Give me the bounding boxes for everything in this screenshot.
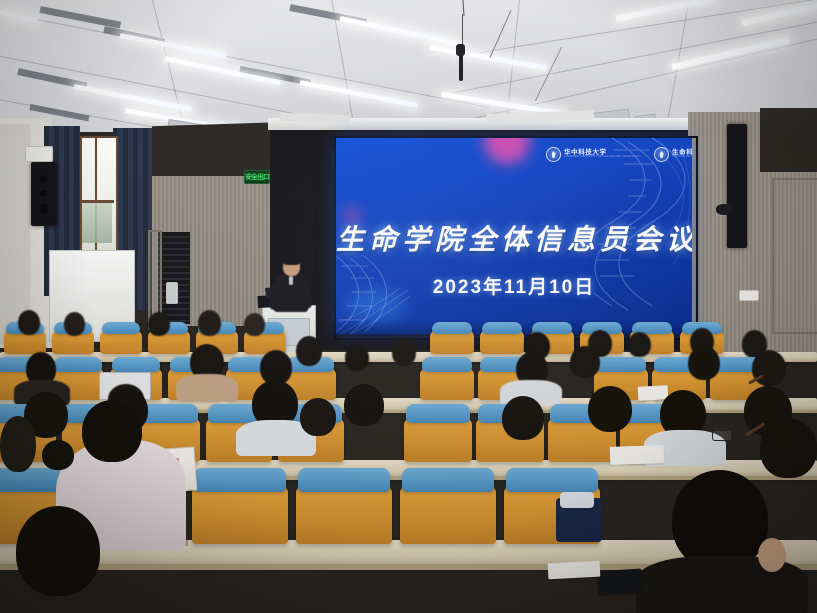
attendee-head <box>588 386 632 432</box>
attendee-head <box>16 506 100 596</box>
exit-sign-label: 安全出口 <box>245 172 269 182</box>
seat-back <box>296 486 392 544</box>
seat-headrest <box>102 322 140 334</box>
attendee-head <box>672 470 768 570</box>
microphone <box>289 276 293 285</box>
seat-back <box>420 368 474 400</box>
seat-headrest <box>402 468 494 492</box>
attendee-head <box>628 332 651 357</box>
seat-headrest <box>482 322 522 334</box>
lecture-hall-photo: 安全出口 <box>0 0 817 613</box>
smartphone <box>597 568 643 595</box>
seat-headrest <box>406 404 470 423</box>
attendee-head <box>570 346 600 378</box>
attendee-head <box>392 338 416 366</box>
seat-back <box>192 486 288 544</box>
slide-title: 生命学院全体信息员会议 <box>336 218 692 258</box>
seat-headrest <box>422 357 472 372</box>
attendee-head <box>344 384 384 426</box>
presenter-hair <box>282 254 301 265</box>
university-emblem-icon <box>546 147 561 162</box>
attendee-head <box>18 310 40 335</box>
attendee-head <box>760 418 817 478</box>
seat-back <box>404 418 472 462</box>
screen-logo-row: 华中科技大学 HUAZHONG UNIVERSITY OF SCIENCE AN… <box>546 147 692 162</box>
wall-sign <box>739 290 759 301</box>
seat-headrest <box>194 468 286 492</box>
attendee-head <box>244 313 265 336</box>
attendee-head <box>502 396 544 440</box>
college-emblem-icon <box>654 147 669 162</box>
hanging-device-stem <box>459 55 463 81</box>
seat-headrest <box>112 357 160 372</box>
seat-headrest <box>432 322 472 334</box>
attendee-head <box>296 336 322 366</box>
screen-glow-accent <box>484 138 530 164</box>
logo-college-subtitle: COLLEGE OF LIFE SCIENCE AND TECHNOLOGY <box>672 156 692 159</box>
attendee-face <box>758 538 786 572</box>
seat-headrest <box>298 468 390 492</box>
attendee-head <box>345 344 369 371</box>
eyeglasses <box>712 430 732 441</box>
seat-headrest <box>54 357 102 372</box>
wall-speaker-right <box>727 124 747 248</box>
attendee-head <box>148 312 170 336</box>
emergency-exit-sign: 安全出口 <box>244 170 270 184</box>
attendee-head <box>198 310 221 336</box>
seat-headrest <box>596 357 646 372</box>
attendee-head <box>300 398 336 436</box>
logo-college: 生命科学与技术学院 COLLEGE OF LIFE SCIENCE AND TE… <box>654 147 692 162</box>
desk-paper <box>548 561 601 580</box>
logo-university-subtitle: HUAZHONG UNIVERSITY OF SCIENCE AND TECHN… <box>564 156 641 159</box>
desk-paper <box>610 445 665 465</box>
presentation-screen: 华中科技大学 HUAZHONG UNIVERSITY OF SCIENCE AN… <box>336 138 692 334</box>
ceiling-cable <box>462 14 463 48</box>
equipment-rack <box>158 232 190 324</box>
right-door-frame <box>772 178 817 334</box>
attendee-head <box>82 400 142 462</box>
attendee-head <box>688 346 720 380</box>
seat-headrest <box>506 468 598 492</box>
attendee-shoulders <box>176 374 238 402</box>
attendee-hair-bun <box>42 440 74 470</box>
slide-date: 2023年11月10日 <box>336 272 692 299</box>
attendee-head <box>0 416 36 472</box>
logo-university: 华中科技大学 HUAZHONG UNIVERSITY OF SCIENCE AN… <box>546 147 641 162</box>
attendee-head <box>64 312 85 336</box>
seat-back <box>400 486 496 544</box>
ceiling-mount-bracket <box>25 146 53 162</box>
